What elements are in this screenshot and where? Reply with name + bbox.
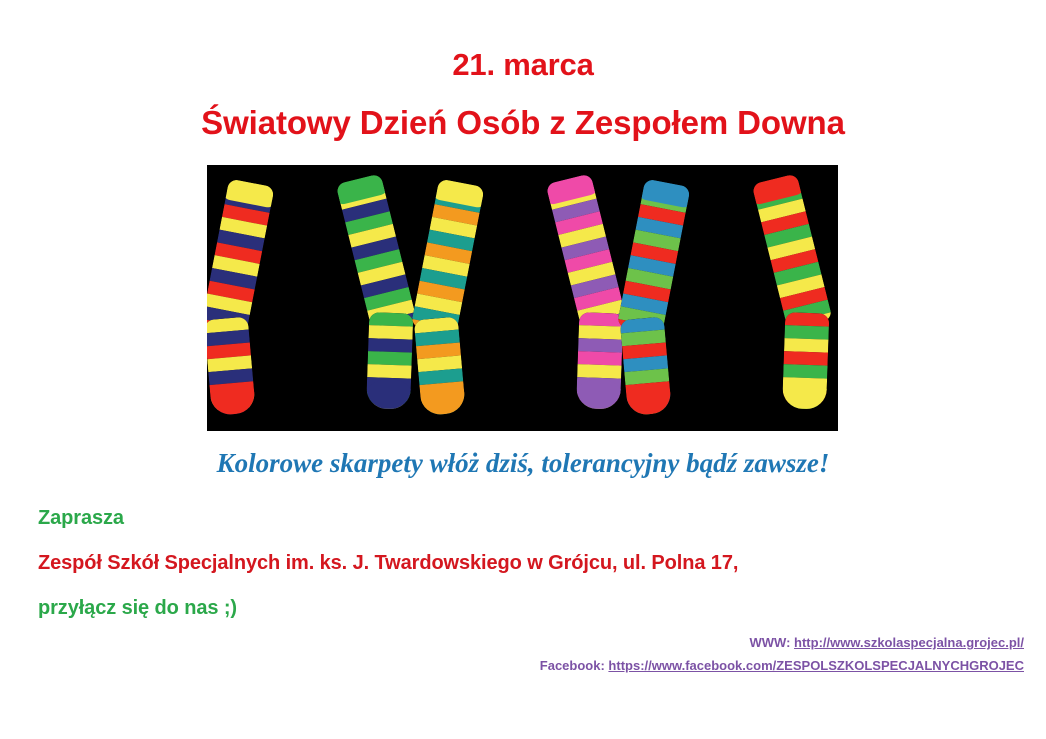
sock-3-right <box>752 173 797 184</box>
sock-2-left <box>439 179 484 188</box>
sock-foot <box>207 317 256 416</box>
sock-leg <box>752 173 833 330</box>
sock-leg <box>336 173 417 330</box>
tagline: Kolorowe skarpety włóż dziś, tolerancyjn… <box>0 448 1046 479</box>
sock-foot <box>620 317 672 416</box>
page-title-date: 21. marca <box>0 48 1046 82</box>
www-label: WWW: <box>750 635 791 650</box>
footer-links: WWW: http://www.szkolaspecjalna.grojec.p… <box>540 632 1024 678</box>
sock-2-right <box>546 173 591 184</box>
www-row: WWW: http://www.szkolaspecjalna.grojec.p… <box>540 632 1024 655</box>
poster-canvas: 21. marca Światowy Dzień Osób z Zespołem… <box>0 0 1046 739</box>
sock-3-left <box>645 179 690 188</box>
page-title-event: Światowy Dzień Osób z Zespołem Downa <box>0 104 1046 142</box>
sock-leg <box>546 173 627 330</box>
sock-1-right <box>336 173 381 184</box>
socks-photo <box>207 165 838 431</box>
socks-illustration <box>207 165 838 431</box>
www-link[interactable]: http://www.szkolaspecjalna.grojec.pl/ <box>794 635 1024 650</box>
invite-line: Zaprasza <box>38 507 124 530</box>
facebook-label: Facebook: <box>540 658 605 673</box>
sock-leg <box>411 179 485 335</box>
sock-foot <box>366 312 413 409</box>
facebook-row: Facebook: https://www.facebook.com/ZESPO… <box>540 655 1024 678</box>
sock-1-left <box>229 179 274 188</box>
sock-foot <box>782 312 829 409</box>
sock-leg <box>207 179 275 335</box>
sock-leg <box>617 179 691 335</box>
organization-line: Zespół Szkół Specjalnych im. ks. J. Twar… <box>38 552 738 575</box>
sock-foot <box>576 312 623 409</box>
closing-line: przyłącz się do nas ;) <box>38 597 237 620</box>
facebook-link[interactable]: https://www.facebook.com/ZESPOLSZKOLSPEC… <box>608 658 1024 673</box>
sock-foot <box>414 317 466 416</box>
